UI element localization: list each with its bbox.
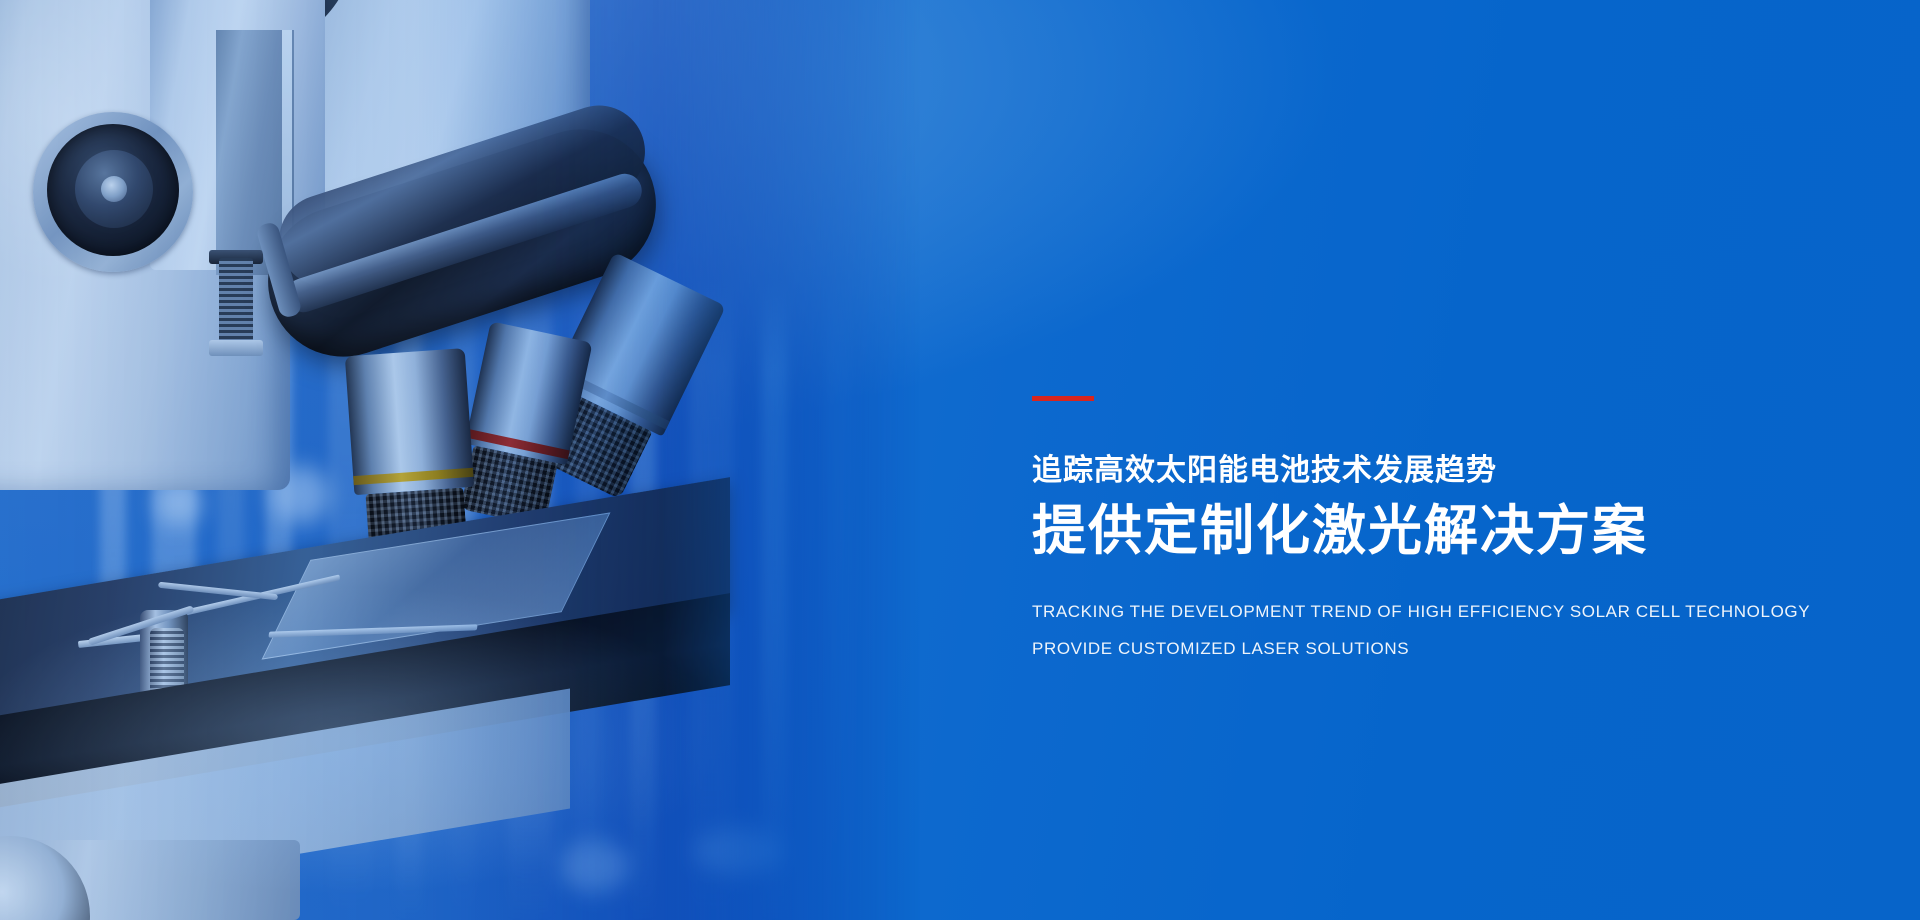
banner-headline: 提供定制化激光解决方案: [1032, 495, 1872, 567]
photo-blue-tint: [0, 0, 920, 920]
banner-copy: 追踪高效太阳能电池技术发展趋势 提供定制化激光解决方案 TRACKING THE…: [1032, 396, 1872, 667]
accent-rule: [1032, 396, 1094, 401]
banner-subtitle: 追踪高效太阳能电池技术发展趋势: [1032, 451, 1872, 491]
banner-english-line-2: PROVIDE CUSTOMIZED LASER SOLUTIONS: [1032, 630, 1872, 667]
banner-english-line-1: TRACKING THE DEVELOPMENT TREND OF HIGH E…: [1032, 593, 1872, 630]
microscope-photo: [0, 0, 920, 920]
hero-banner: 追踪高效太阳能电池技术发展趋势 提供定制化激光解决方案 TRACKING THE…: [0, 0, 1920, 920]
